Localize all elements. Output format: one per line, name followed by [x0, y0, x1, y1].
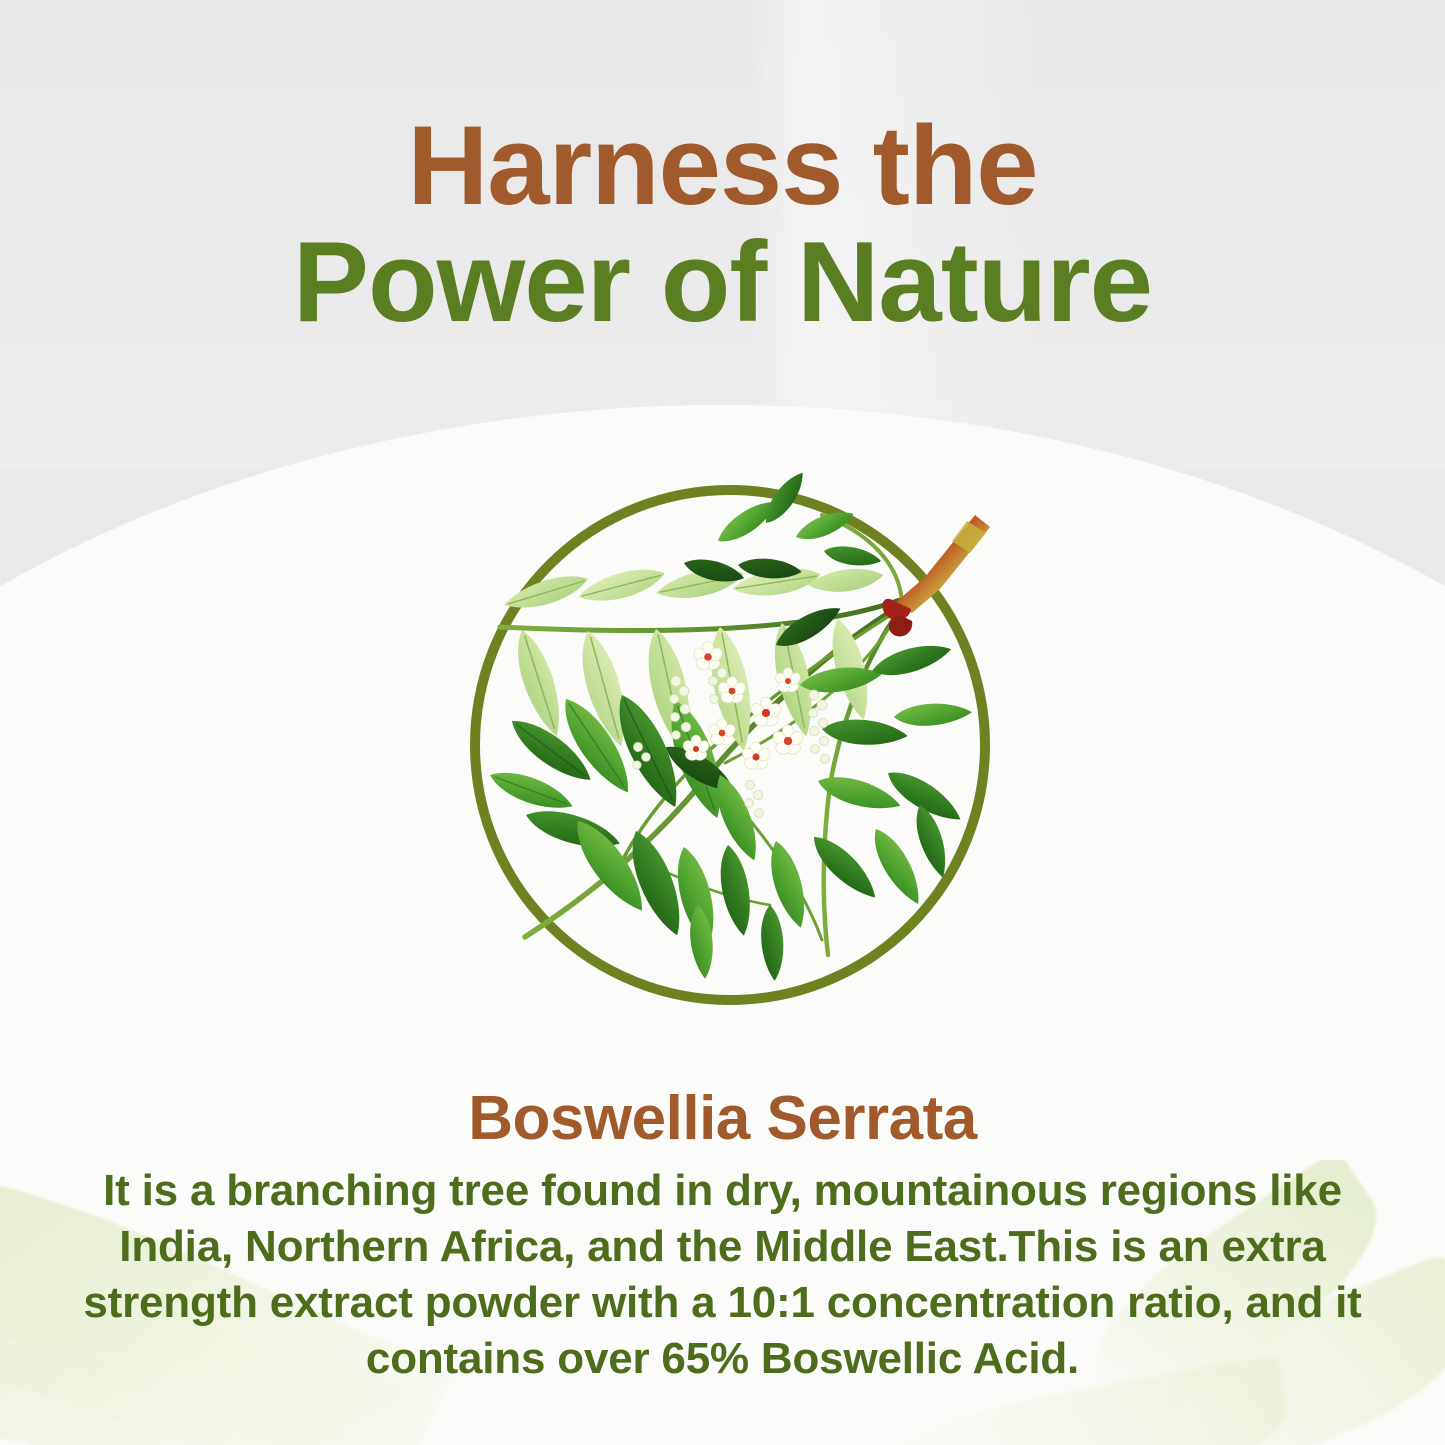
headline-line-1: Harness the [0, 108, 1445, 224]
headline-line-2: Power of Nature [0, 224, 1445, 343]
dark-leaflet-cluster-right [770, 600, 972, 911]
product-infographic-canvas: Harness the Power of Nature [0, 0, 1445, 1445]
headline-block: Harness the Power of Nature [0, 108, 1445, 343]
page-title: Boswellia Serrata [0, 1085, 1445, 1153]
description-text: It is a branching tree found in dry, mou… [0, 1163, 1445, 1387]
caption-block: Boswellia Serrata It is a branching tree… [0, 1085, 1445, 1387]
boswellia-branch-illustration [470, 485, 990, 1005]
cut-stem-icon [882, 515, 990, 636]
